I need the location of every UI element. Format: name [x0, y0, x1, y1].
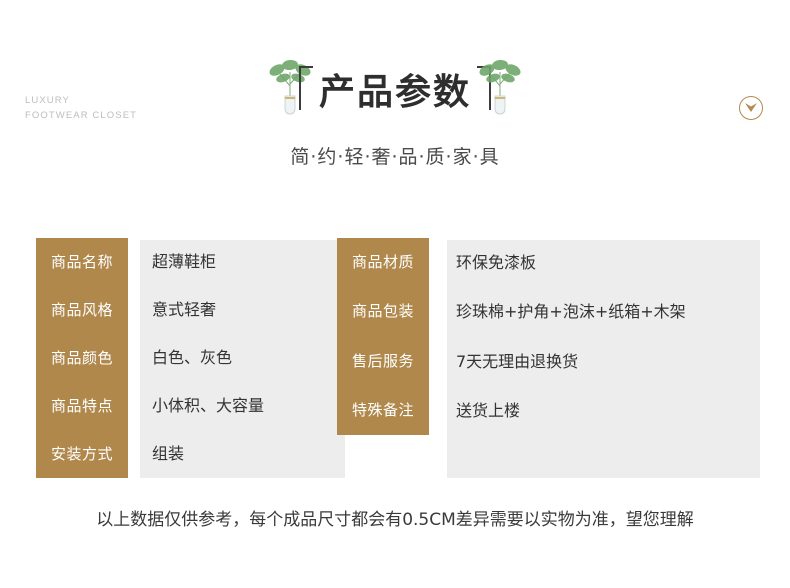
spec-label: 商品名称 [36, 238, 128, 286]
spec-value: 环保免漆板 [456, 238, 686, 287]
page-title: 产品参数 [313, 70, 477, 116]
title-bracket-left [299, 66, 313, 110]
spec-value: 7天无理由退换货 [456, 337, 686, 386]
page-title-block: 产品参数 [0, 48, 790, 118]
spec-value: 超薄鞋柜 [152, 238, 264, 286]
spec-label: 商品风格 [36, 286, 128, 334]
spec-label: 商品包装 [337, 287, 429, 336]
spec-value-stack-right: 环保免漆板 珍珠棉+护角+泡沫+纸箱+木架 7天无理由退换货 送货上楼 [456, 238, 686, 435]
spec-label: 商品颜色 [36, 334, 128, 382]
spec-label-stack-right: 商品材质 商品包装 售后服务 特殊备注 [337, 238, 429, 435]
spec-value: 组装 [152, 430, 264, 478]
page-subtitle: 简·约·轻·奢·品·质·家·具 [0, 142, 790, 169]
spec-value-stack-left: 超薄鞋柜 意式轻奢 白色、灰色 小体积、大容量 组装 [152, 238, 264, 478]
spec-column-left: 商品名称 商品风格 商品颜色 商品特点 安装方式 [36, 238, 128, 478]
spec-value: 珍珠棉+护角+泡沫+纸箱+木架 [456, 287, 686, 336]
spec-label: 特殊备注 [337, 386, 429, 435]
spec-label: 安装方式 [36, 430, 128, 478]
spec-value: 小体积、大容量 [152, 382, 264, 430]
disclaimer-note: 以上数据仅供参考，每个成品尺寸都会有0.5CM差异需要以实物为准，望您理解 [0, 505, 790, 530]
spec-value: 送货上楼 [456, 386, 686, 435]
chevron-down-icon[interactable] [739, 96, 763, 120]
spec-label: 售后服务 [337, 337, 429, 386]
spec-label: 商品特点 [36, 382, 128, 430]
spec-label-stack-left: 商品名称 商品风格 商品颜色 商品特点 安装方式 [36, 238, 128, 478]
spec-value: 白色、灰色 [152, 334, 264, 382]
potted-plant-icon-right [477, 56, 523, 118]
spec-column-right: 商品材质 商品包装 售后服务 特殊备注 [337, 238, 429, 435]
spec-label: 商品材质 [337, 238, 429, 287]
spec-value: 意式轻奢 [152, 286, 264, 334]
